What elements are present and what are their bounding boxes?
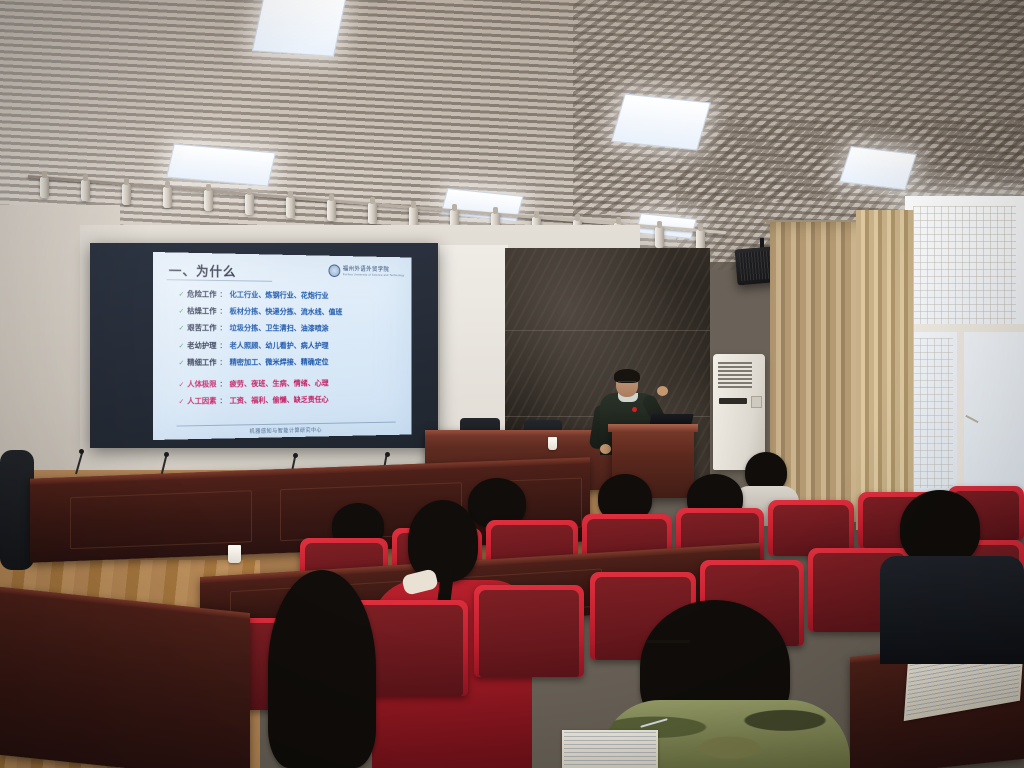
curtain-right[interactable] <box>856 210 914 530</box>
bullet-separator: ： <box>219 306 226 317</box>
check-icon: ✓ <box>179 290 185 298</box>
microphone-head <box>293 453 298 458</box>
ac-display-panel <box>719 398 747 404</box>
slide-bullet-row: ✓精细工作：精密加工、微米焊接、精确定位 <box>179 356 405 367</box>
speaker-gesturing-hand <box>657 386 668 396</box>
track-spotlight <box>163 187 172 208</box>
bullet-examples: 板材分拣、快递分拣、流水线、值班 <box>230 306 343 318</box>
presentation-slide[interactable]: 一、为什么 福州外语外贸学院 Fuzhou University of Scie… <box>153 252 412 440</box>
slide-title: 一、为什么 <box>169 260 237 280</box>
bullet-separator: ： <box>219 378 226 389</box>
paper-cup-on-stage-table <box>548 437 557 450</box>
ceiling-panel-light <box>839 146 917 190</box>
bullet-examples: 工资、福利、偷懒、缺乏责任心 <box>230 394 329 406</box>
check-icon: ✓ <box>179 324 185 332</box>
bullet-label: 人工因素 <box>187 395 216 406</box>
check-icon: ✓ <box>179 342 185 350</box>
lecture-hall-photo: 一、为什么 福州外语外贸学院 Fuzhou University of Scie… <box>0 0 1024 768</box>
slide-bullet-row: ✓老幼护理：老人照顾、幼儿看护、病人护理 <box>179 340 405 351</box>
university-seal-icon <box>328 264 340 277</box>
bullet-examples: 垃圾分拣、卫生清扫、油漆喷涂 <box>230 323 329 334</box>
microphone-head <box>164 452 169 457</box>
glasses-foreground <box>646 640 690 648</box>
bullet-examples: 老人照顾、幼儿看护、病人护理 <box>230 340 329 351</box>
bullet-examples: 化工行业、炼钢行业、花炮行业 <box>230 289 329 301</box>
university-logo: 福州外语外贸学院 Fuzhou University of Science an… <box>328 264 404 278</box>
bullet-label: 危险工作 <box>187 288 216 299</box>
bullet-label: 精细工作 <box>187 357 216 368</box>
bullet-separator: ： <box>219 395 226 406</box>
audience-desk-row <box>0 587 250 768</box>
slide-bullet-row: ✓艰苦工作：垃圾分拣、卫生清扫、油漆喷涂 <box>179 323 405 335</box>
bullet-separator: ： <box>219 340 226 351</box>
slide-bullet-row: ✓枯燥工作：板材分拣、快递分拣、流水线、值班 <box>179 305 405 317</box>
speaker-hand-on-podium <box>600 444 611 454</box>
speaker-glasses <box>618 381 636 387</box>
track-spotlight <box>81 180 90 201</box>
check-icon: ✓ <box>179 398 185 406</box>
bullet-examples: 疲劳、夜班、生病、情绪、心理 <box>230 377 329 389</box>
check-icon: ✓ <box>179 359 185 367</box>
bullet-separator: ： <box>219 357 226 368</box>
track-spotlight <box>286 197 295 218</box>
paper-cup-on-desk <box>228 545 241 563</box>
track-spotlight <box>40 177 49 198</box>
ac-vent-grill <box>718 362 752 388</box>
person-head-glasses <box>900 490 980 566</box>
track-spotlight <box>245 194 254 215</box>
auditorium-seat[interactable] <box>474 585 584 677</box>
microphone-head <box>79 449 84 454</box>
university-name-en: Fuzhou University of Science and Technol… <box>343 273 405 277</box>
person-torso <box>880 556 1024 664</box>
bullet-separator: ： <box>219 323 226 334</box>
slide-bullet-row: ✓人体极限：疲劳、夜班、生病、情绪、心理 <box>179 377 405 390</box>
ceiling-panel-light <box>252 0 346 57</box>
bullet-label: 老幼护理 <box>187 340 216 351</box>
track-spotlight <box>327 200 336 221</box>
slide-bullet-list: ✓危险工作：化工行业、炼钢行业、花炮行业✓枯燥工作：板材分拣、快递分拣、流水线、… <box>179 288 405 412</box>
slide-bullet-row: ✓人工因素：工资、福利、偷懒、缺乏责任心 <box>179 393 405 406</box>
bullet-label: 人体极限 <box>187 378 216 389</box>
person-head-foreground-left <box>268 570 376 768</box>
track-spotlight <box>655 227 664 248</box>
track-spotlight <box>204 190 213 211</box>
notebook-foreground <box>562 730 658 768</box>
window <box>905 196 1024 496</box>
speaker-lapel-badge <box>632 407 637 412</box>
track-spotlight <box>122 184 131 205</box>
check-icon: ✓ <box>179 307 185 315</box>
microphone-head <box>385 452 390 457</box>
check-icon: ✓ <box>179 381 185 389</box>
bullet-separator: ： <box>219 289 226 300</box>
title-underline <box>167 279 272 282</box>
bullet-examples: 精密加工、微米焊接、精确定位 <box>230 356 329 367</box>
track-spotlight <box>368 203 377 224</box>
ac-control-button[interactable] <box>751 396 762 408</box>
ceiling-panel-light <box>611 93 711 150</box>
slide-bullet-row: ✓危险工作：化工行业、炼钢行业、花炮行业 <box>179 288 405 301</box>
bullet-label: 枯燥工作 <box>187 306 216 317</box>
bullet-label: 艰苦工作 <box>187 323 216 334</box>
side-chair <box>0 450 34 570</box>
